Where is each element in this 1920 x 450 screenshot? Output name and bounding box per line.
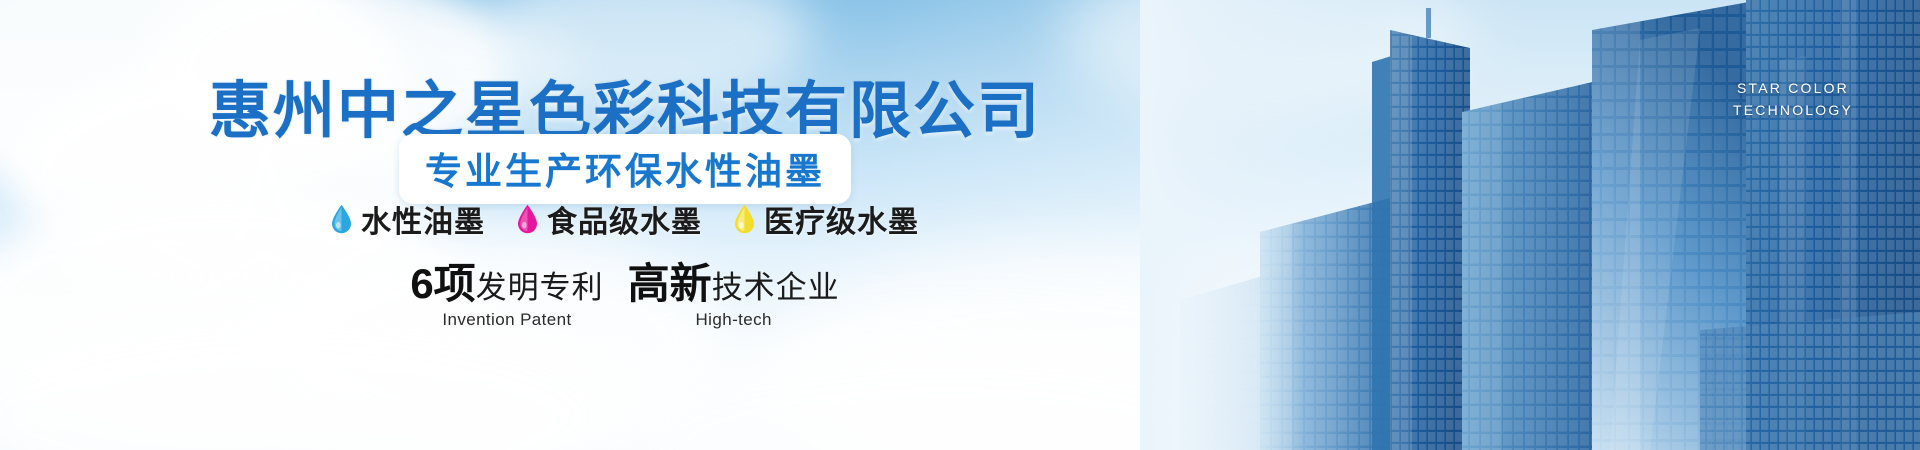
feature-item: 水性油墨 (331, 197, 485, 241)
corner-brand-line-2: TECHNOLOGY (1718, 100, 1868, 122)
subtitle-container: 专业生产环保水性油墨 (0, 134, 1250, 204)
badge-item: 高新技术企业 High-tech (628, 262, 840, 330)
badge-main-text: 高新技术企业 (628, 262, 840, 306)
badge-rest-text: 技术企业 (712, 270, 840, 305)
subtitle-pill: 专业生产环保水性油墨 (399, 134, 851, 204)
badge-main-text: 6项发明专利 (410, 262, 603, 306)
feature-label: 食品级水墨 (547, 197, 702, 241)
skyscrapers-illustration (1140, 0, 1920, 450)
feature-item: 医疗级水墨 (734, 197, 919, 241)
feature-list: 水性油墨 食品级水墨 医疗级水墨 (0, 197, 1250, 241)
badge-rest-text: 发明专利 (476, 270, 604, 305)
badge-list: 6项发明专利 Invention Patent 高新技术企业 High-tech (0, 262, 1250, 330)
corner-brand: STAR COLOR TECHNOLOGY (1718, 78, 1868, 121)
feature-label: 医疗级水墨 (764, 197, 919, 241)
badge-strong-text: 高新 (628, 260, 712, 307)
water-drop-icon (331, 204, 352, 234)
banner-content: 惠州中之星色彩科技有限公司 专业生产环保水性油墨 水性油墨 食品级水墨 (0, 0, 1250, 450)
feature-label: 水性油墨 (361, 197, 485, 241)
badge-english-text: High-tech (628, 310, 840, 330)
water-drop-icon (517, 204, 538, 234)
water-drop-icon (734, 204, 755, 234)
corner-brand-line-1: STAR COLOR (1718, 78, 1868, 100)
badge-strong-text: 6项 (410, 260, 475, 307)
badge-item: 6项发明专利 Invention Patent (410, 262, 603, 330)
feature-item: 食品级水墨 (517, 197, 702, 241)
promo-banner: Star Color (0, 0, 1920, 450)
badge-english-text: Invention Patent (410, 310, 603, 330)
